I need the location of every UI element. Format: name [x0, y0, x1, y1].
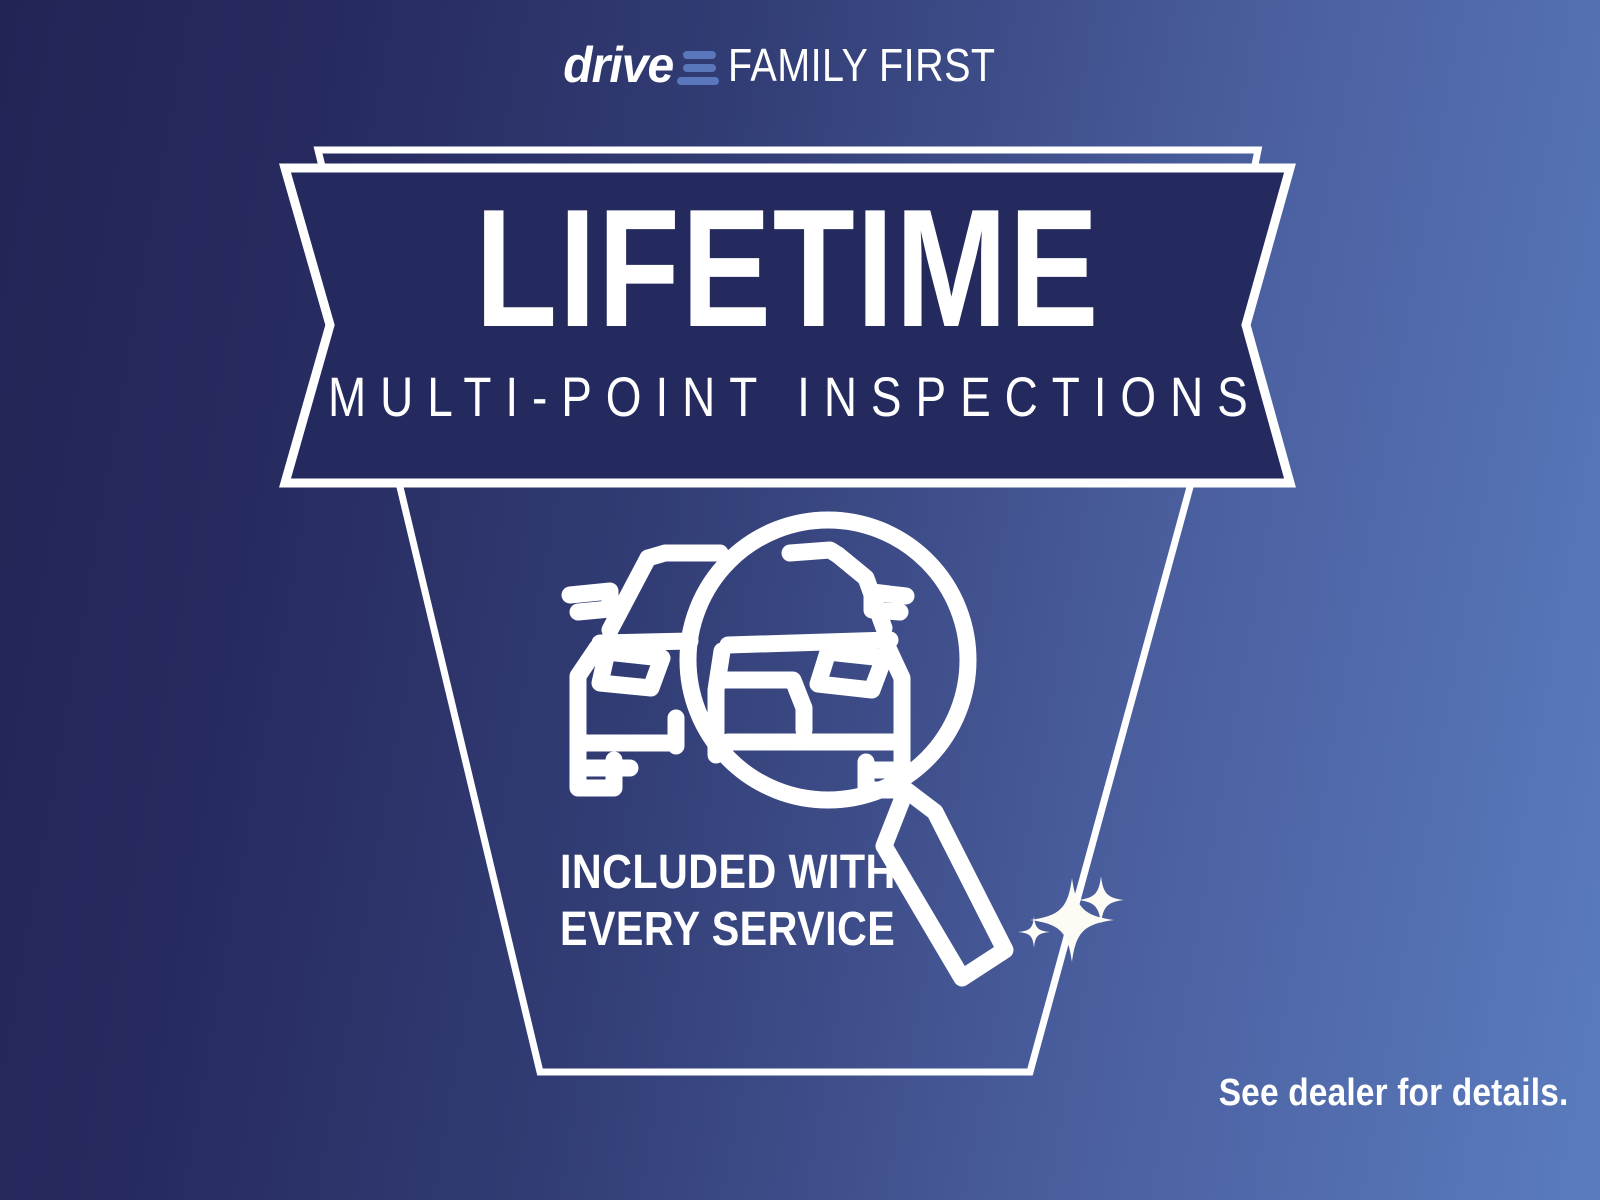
sparkle-star-icon-medium	[1078, 876, 1124, 924]
banner-text-block: LIFETIME MULTI-POINT INSPECTIONS	[285, 168, 1290, 486]
banner-subheadline: MULTI-POINT INSPECTIONS	[314, 369, 1262, 425]
sparkle-group	[1018, 876, 1124, 962]
stacked-bars-icon	[683, 46, 719, 85]
brand-logo-lockup: drive FAMILY FIRST	[0, 30, 1600, 100]
badge-caption-line-1: INCLUDED WITH	[560, 845, 896, 902]
brand-tagline: FAMILY FIRST	[728, 42, 995, 88]
stacked-bars-icon-bar-1	[683, 51, 716, 59]
magnifier-handle	[884, 790, 1005, 978]
promo-graphic: drive FAMILY FIRST	[0, 0, 1600, 1200]
background-car-icon	[570, 553, 720, 788]
banner-headline: LIFETIME	[475, 186, 1100, 351]
sparkle-star-icon-large	[1030, 878, 1114, 962]
sparkle-star-icon-small	[1018, 916, 1050, 948]
foreground-car-icon	[716, 550, 906, 790]
disclaimer-text: See dealer for details.	[1218, 1074, 1568, 1112]
stacked-bars-icon-bar-3	[677, 77, 719, 85]
stacked-bars-icon-bar-2	[683, 64, 716, 72]
badge-caption-line-2: EVERY SERVICE	[560, 902, 896, 959]
brand-wordmark: drive	[564, 40, 674, 90]
magnifier-lens	[688, 520, 968, 800]
badge-caption: INCLUDED WITH EVERY SERVICE	[560, 845, 896, 958]
